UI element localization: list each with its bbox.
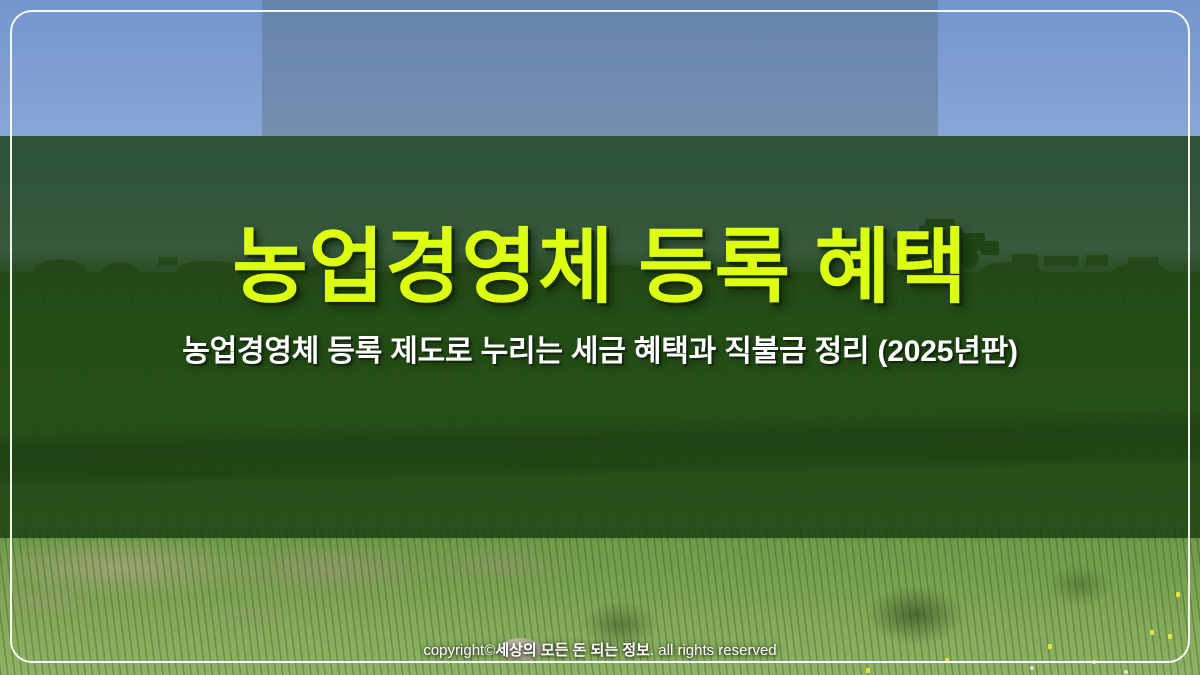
sky-tint-overlay — [262, 0, 938, 136]
copyright-brand: 세상의 모든 돈 되는 정보 — [495, 642, 650, 659]
white-wildflower — [1124, 670, 1128, 674]
page-title: 농업경영체 등록 혜택 — [0, 222, 1200, 314]
page-subtitle: 농업경영체 등록 제도로 누리는 세금 혜택과 직불금 정리 (2025년판) — [0, 334, 1200, 370]
copyright-footer: copyright©세상의 모든 돈 되는 정보. all rights res… — [0, 639, 1200, 660]
headline-block: 농업경영체 등록 혜택 농업경영체 등록 제도로 누리는 세금 혜택과 직불금 … — [0, 222, 1200, 370]
wildflower — [866, 668, 870, 673]
thumbnail-canvas: 농업경영체 등록 혜택 농업경영체 등록 제도로 누리는 세금 혜택과 직불금 … — [0, 0, 1200, 675]
white-wildflower — [1030, 666, 1034, 670]
copyright-suffix: . all rights reserved — [650, 642, 777, 659]
white-wildflower — [1092, 660, 1096, 664]
wildflower — [1176, 592, 1180, 597]
wildflower — [1150, 630, 1154, 635]
copyright-prefix: copyright© — [423, 642, 495, 659]
